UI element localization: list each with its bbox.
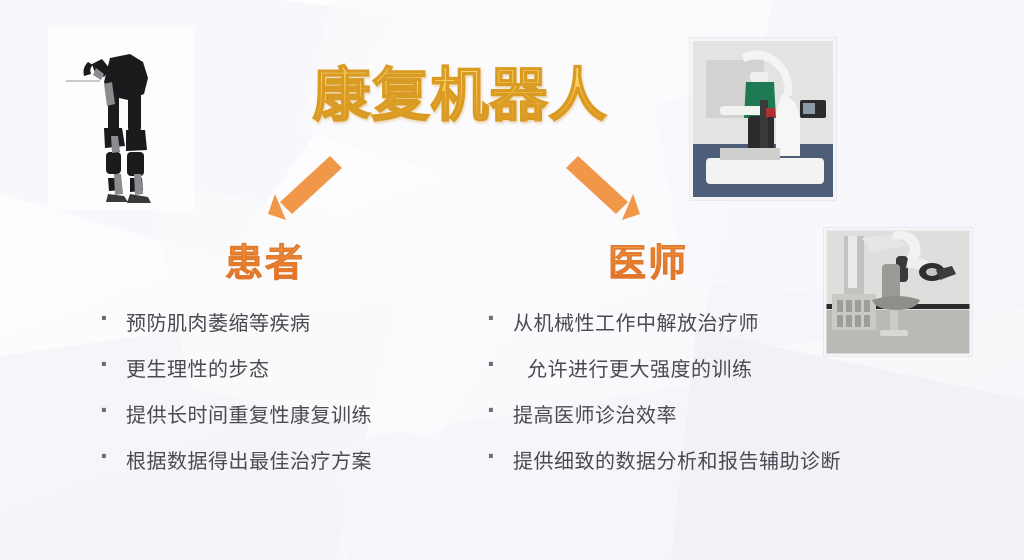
heading-patient: 患者 bbox=[225, 244, 305, 282]
bullet-dot-icon bbox=[100, 304, 126, 332]
list-item: 提高医师诊治效率 bbox=[487, 399, 917, 445]
list-item: 更生理性的步态 bbox=[100, 353, 430, 399]
bullet-dot-icon bbox=[100, 442, 126, 470]
list-item-label: 提供细致的数据分析和报告辅助诊断 bbox=[513, 451, 841, 471]
list-item-label: 从机械性工作中解放治疗师 bbox=[513, 313, 759, 333]
bullet-dot-icon bbox=[487, 442, 513, 470]
list-item: 允许进行更大强度的训练 bbox=[487, 353, 917, 399]
arrow-to-physician-icon bbox=[562, 150, 662, 230]
bullet-dot-icon bbox=[487, 350, 513, 378]
list-item-label: 允许进行更大强度的训练 bbox=[513, 359, 753, 379]
list-item: 从机械性工作中解放治疗师 bbox=[487, 307, 917, 353]
list-item-label: 提供长时间重复性康复训练 bbox=[126, 405, 372, 425]
list-item-label: 根据数据得出最佳治疗方案 bbox=[126, 451, 372, 471]
slide-canvas: 康复机器人 患者 医师 预防肌肉萎缩等疾病 更生理性的步态 提供长时间重复性康复… bbox=[0, 0, 1024, 560]
bullet-dot-icon bbox=[487, 396, 513, 424]
bullet-list-physician: 从机械性工作中解放治疗师 允许进行更大强度的训练 提高医师诊治效率 提供细致的数… bbox=[487, 307, 917, 491]
bullet-dot-icon bbox=[100, 396, 126, 424]
photo-gait-training-robot bbox=[690, 38, 836, 200]
page-title: 康复机器人 bbox=[300, 66, 620, 124]
list-item-label: 更生理性的步态 bbox=[126, 359, 270, 379]
list-item: 预防肌肉萎缩等疾病 bbox=[100, 307, 430, 353]
list-item: 提供长时间重复性康复训练 bbox=[100, 399, 430, 445]
list-item-label: 提高医师诊治效率 bbox=[513, 405, 677, 425]
list-item: 提供细致的数据分析和报告辅助诊断 bbox=[487, 445, 917, 491]
bullet-dot-icon bbox=[100, 350, 126, 378]
bullet-dot-icon bbox=[487, 304, 513, 332]
heading-physician: 医师 bbox=[608, 244, 688, 282]
arrow-to-patient-icon bbox=[258, 150, 358, 230]
photo-exoskeleton-robot bbox=[48, 28, 194, 210]
list-item-label: 预防肌肉萎缩等疾病 bbox=[126, 313, 311, 333]
list-item: 根据数据得出最佳治疗方案 bbox=[100, 445, 430, 491]
bullet-list-patient: 预防肌肉萎缩等疾病 更生理性的步态 提供长时间重复性康复训练 根据数据得出最佳治… bbox=[100, 307, 430, 491]
